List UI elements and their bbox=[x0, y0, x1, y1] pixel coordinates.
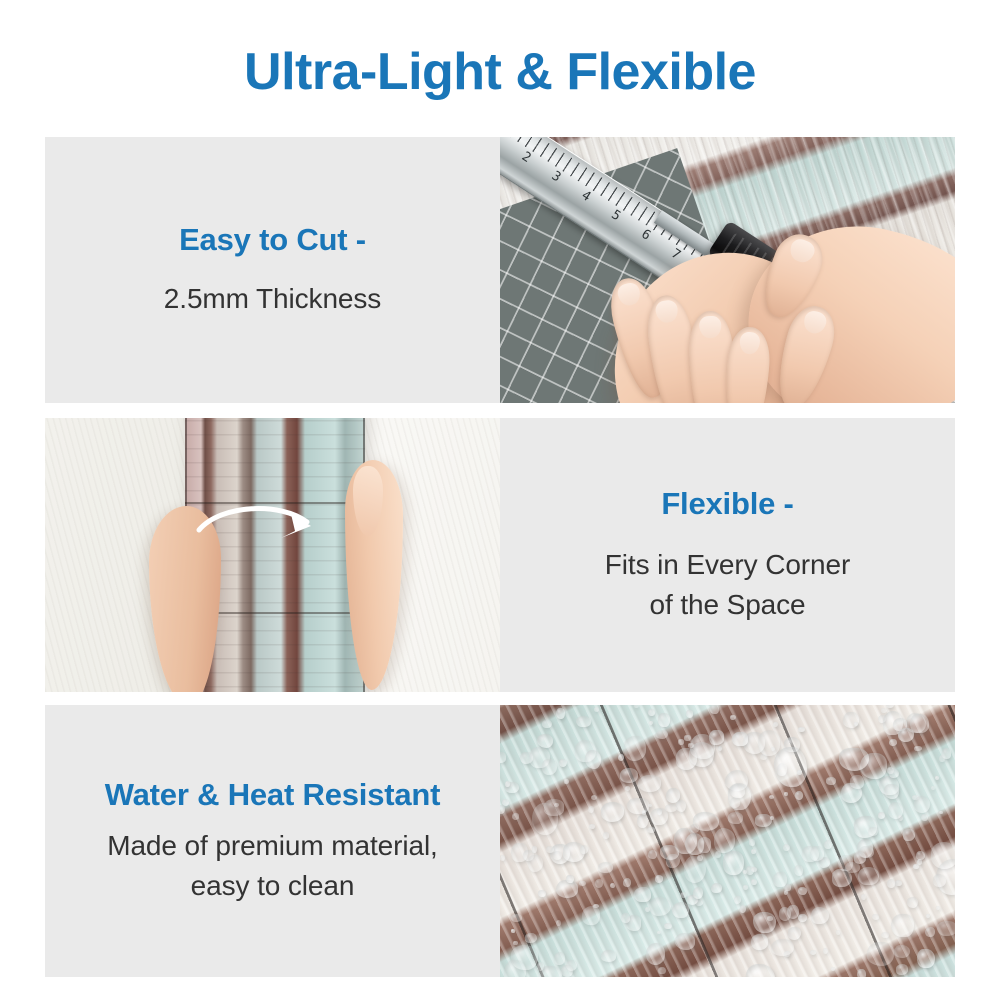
water-droplet bbox=[889, 739, 897, 746]
feature-row-easy-to-cut: Easy to Cut - 2.5mm Thickness 0 1 2 3 4 … bbox=[45, 137, 955, 403]
water-droplet bbox=[511, 929, 515, 932]
water-droplet bbox=[935, 776, 939, 780]
water-droplet bbox=[857, 969, 866, 977]
feature-body-line-corner: Fits in Every Corner bbox=[605, 545, 850, 585]
water-droplet bbox=[709, 730, 724, 745]
water-droplet bbox=[894, 945, 910, 958]
water-droplet bbox=[656, 730, 668, 739]
water-droplet bbox=[746, 964, 775, 977]
water-droplet bbox=[914, 796, 930, 814]
water-droplet bbox=[914, 746, 922, 752]
water-droplet bbox=[603, 832, 609, 839]
water-droplet bbox=[868, 827, 878, 836]
water-droplet bbox=[554, 952, 565, 965]
water-droplet bbox=[625, 786, 630, 791]
water-droplet bbox=[743, 870, 747, 873]
water-droplet bbox=[743, 885, 749, 890]
water-droplet bbox=[931, 842, 955, 870]
water-droplet bbox=[537, 734, 553, 748]
water-droplet bbox=[723, 851, 744, 875]
water-droplet bbox=[645, 907, 650, 912]
water-droplet bbox=[594, 707, 599, 713]
feature-body-line-clean: easy to clean bbox=[191, 866, 355, 906]
fingernail bbox=[616, 281, 642, 307]
water-droplet bbox=[582, 906, 599, 925]
water-droplet bbox=[933, 874, 946, 887]
water-droplet bbox=[939, 811, 944, 815]
water-droplet bbox=[907, 897, 918, 908]
feature-body-line-thickness: 2.5mm Thickness bbox=[164, 279, 381, 319]
water-droplet bbox=[648, 850, 657, 859]
water-droplet bbox=[563, 842, 585, 863]
water-droplet bbox=[566, 875, 574, 884]
water-droplet bbox=[783, 844, 791, 851]
water-droplet bbox=[850, 775, 865, 789]
water-droplet bbox=[649, 721, 653, 725]
water-droplet bbox=[798, 727, 805, 733]
water-droplet bbox=[566, 960, 577, 971]
water-droplet bbox=[838, 855, 853, 871]
water-droplet bbox=[512, 813, 519, 820]
water-droplet bbox=[538, 890, 546, 897]
feature-text-pane-easy-to-cut: Easy to Cut - 2.5mm Thickness bbox=[45, 137, 500, 403]
water-droplet bbox=[666, 854, 680, 868]
fingernail bbox=[801, 309, 828, 336]
water-droplet bbox=[926, 914, 930, 918]
water-droplet bbox=[685, 833, 705, 855]
water-droplet bbox=[823, 948, 828, 954]
water-droplet bbox=[831, 967, 835, 971]
water-droplet bbox=[676, 748, 696, 771]
water-droplet bbox=[810, 846, 824, 861]
water-droplet bbox=[734, 896, 741, 904]
water-droplet bbox=[665, 804, 677, 813]
water-droplet bbox=[500, 855, 505, 861]
water-droplet bbox=[858, 867, 880, 885]
water-droplet bbox=[886, 705, 894, 708]
water-droplet bbox=[598, 862, 613, 873]
water-droplet bbox=[556, 920, 562, 927]
water-droplet bbox=[715, 851, 721, 858]
water-droplet bbox=[753, 912, 776, 933]
water-droplet bbox=[889, 769, 899, 778]
water-droplets-photo bbox=[500, 705, 955, 977]
water-droplet bbox=[504, 960, 526, 977]
water-droplet bbox=[774, 747, 808, 787]
water-droplet bbox=[623, 878, 631, 887]
water-droplet bbox=[861, 894, 866, 900]
water-droplet bbox=[740, 905, 746, 912]
water-droplet bbox=[657, 931, 661, 934]
water-droplet bbox=[730, 784, 745, 798]
water-droplet bbox=[680, 892, 687, 898]
feature-row-water-heat-resistant: Water & Heat Resistant Made of premium m… bbox=[45, 705, 955, 977]
water-droplet bbox=[771, 939, 794, 957]
water-droplet bbox=[556, 708, 565, 719]
water-droplet bbox=[621, 913, 630, 924]
water-droplet bbox=[588, 806, 594, 813]
water-droplet bbox=[624, 736, 646, 761]
water-droplet bbox=[937, 921, 955, 936]
water-droplet bbox=[710, 705, 719, 714]
water-droplet bbox=[537, 962, 544, 970]
water-droplet bbox=[896, 964, 909, 974]
water-droplet bbox=[917, 949, 935, 969]
water-droplet bbox=[672, 902, 689, 918]
water-droplet bbox=[824, 840, 832, 849]
water-droplet bbox=[895, 880, 902, 886]
feature-body-line-material: Made of premium material, bbox=[107, 826, 438, 866]
water-droplet bbox=[878, 812, 885, 820]
water-droplet bbox=[532, 803, 558, 835]
water-droplet bbox=[678, 739, 684, 746]
water-droplet bbox=[867, 942, 895, 966]
water-droplet bbox=[751, 879, 757, 885]
water-droplet bbox=[749, 839, 756, 846]
water-droplet bbox=[798, 887, 807, 895]
infographic-page: Ultra-Light & Flexible Easy to Cut - 2.5… bbox=[0, 0, 1000, 1000]
water-droplet bbox=[836, 930, 840, 935]
water-droplet bbox=[554, 803, 559, 807]
feature-heading-flexible: Flexible - bbox=[661, 485, 793, 523]
water-droplet bbox=[690, 824, 699, 833]
water-droplet bbox=[610, 883, 615, 889]
water-droplet bbox=[589, 824, 595, 829]
water-droplet bbox=[779, 907, 791, 921]
water-droplet bbox=[769, 795, 774, 799]
water-droplet bbox=[810, 950, 816, 955]
feature-text-pane-flexible: Flexible - Fits in Every Corner of the S… bbox=[500, 418, 955, 692]
water-droplet bbox=[798, 914, 807, 922]
water-droplet bbox=[718, 746, 722, 751]
fingernail bbox=[655, 299, 679, 324]
fingernail bbox=[699, 316, 721, 339]
water-droplet bbox=[884, 784, 899, 800]
water-droplet bbox=[513, 941, 518, 946]
feature-body-line-space: of the Space bbox=[649, 585, 805, 625]
water-droplet bbox=[728, 812, 742, 824]
water-droplet bbox=[854, 722, 858, 726]
water-droplet bbox=[773, 722, 778, 727]
water-droplet bbox=[684, 856, 707, 883]
water-droplet bbox=[891, 914, 914, 938]
water-droplet bbox=[601, 802, 624, 822]
water-droplet bbox=[714, 828, 735, 854]
water-droplet bbox=[693, 887, 703, 898]
water-droplet bbox=[511, 914, 522, 922]
water-droplet bbox=[500, 752, 506, 762]
water-droplet bbox=[811, 907, 829, 924]
water-droplet bbox=[649, 897, 671, 916]
water-droplet bbox=[650, 808, 668, 825]
water-droplet bbox=[730, 797, 740, 808]
water-droplet bbox=[648, 804, 652, 807]
water-droplet bbox=[925, 927, 935, 937]
water-droplet bbox=[684, 735, 691, 742]
water-droplet bbox=[564, 779, 569, 784]
water-droplet bbox=[770, 816, 775, 820]
water-droplet bbox=[579, 881, 586, 887]
water-droplet bbox=[785, 884, 791, 891]
water-droplet bbox=[936, 906, 940, 910]
water-droplet bbox=[898, 728, 914, 743]
fingernail bbox=[787, 236, 817, 265]
water-droplet bbox=[528, 855, 543, 871]
water-droplet bbox=[697, 855, 702, 862]
water-droplet bbox=[730, 715, 736, 721]
water-droplet bbox=[627, 798, 649, 814]
water-droplet bbox=[559, 759, 567, 767]
water-droplet bbox=[620, 768, 639, 784]
page-title: Ultra-Light & Flexible bbox=[0, 42, 1000, 102]
water-droplet bbox=[542, 759, 557, 775]
water-droplet bbox=[634, 887, 651, 903]
water-droplet bbox=[664, 923, 671, 929]
water-droplet bbox=[502, 799, 509, 806]
water-droplet bbox=[931, 786, 935, 790]
water-droplet bbox=[771, 747, 775, 751]
bending-panel-photo bbox=[45, 418, 500, 692]
fingernail bbox=[739, 331, 761, 354]
water-droplet bbox=[618, 754, 624, 761]
water-droplet bbox=[921, 814, 929, 821]
water-droplet bbox=[576, 716, 591, 727]
feature-text-pane-water-heat-resistant: Water & Heat Resistant Made of premium m… bbox=[45, 705, 500, 977]
water-droplet bbox=[751, 849, 756, 855]
water-droplet bbox=[732, 732, 748, 746]
water-droplet bbox=[634, 705, 639, 708]
water-droplet bbox=[500, 805, 505, 814]
water-droplet bbox=[525, 933, 538, 944]
water-droplet bbox=[585, 750, 601, 769]
water-droplet bbox=[903, 829, 915, 841]
water-droplet bbox=[648, 709, 655, 716]
water-droplet bbox=[751, 934, 768, 950]
water-droplet bbox=[655, 875, 664, 883]
water-droplet bbox=[913, 864, 919, 870]
water-droplet bbox=[859, 846, 875, 858]
water-droplet bbox=[658, 713, 670, 727]
water-droplet bbox=[788, 927, 800, 940]
water-droplet bbox=[711, 883, 722, 893]
water-droplet bbox=[532, 846, 538, 852]
water-droplet bbox=[595, 879, 604, 888]
water-droplet bbox=[646, 943, 666, 965]
water-droplet bbox=[942, 748, 952, 758]
water-droplet bbox=[784, 792, 788, 796]
water-droplet bbox=[795, 791, 803, 800]
water-droplet bbox=[773, 872, 788, 888]
water-droplet bbox=[647, 827, 655, 833]
water-droplet bbox=[826, 777, 836, 786]
water-droplet bbox=[638, 775, 661, 792]
water-droplet bbox=[601, 950, 617, 962]
water-droplet bbox=[676, 800, 686, 812]
water-droplet bbox=[688, 743, 693, 748]
water-droplet bbox=[591, 795, 597, 800]
water-droplet bbox=[675, 933, 695, 951]
water-droplet bbox=[658, 967, 666, 975]
feature-row-flexible: Flexible - Fits in Every Corner of the S… bbox=[45, 418, 955, 692]
water-droplet bbox=[542, 720, 552, 727]
water-droplet bbox=[637, 815, 648, 829]
bend-direction-arrow-icon bbox=[195, 498, 325, 558]
water-droplet bbox=[872, 914, 879, 920]
feature-heading-water-heat-resistant: Water & Heat Resistant bbox=[105, 776, 441, 814]
water-droplet bbox=[881, 932, 890, 939]
water-droplet bbox=[794, 865, 804, 876]
water-droplet bbox=[888, 802, 903, 819]
water-droplet-layer bbox=[500, 705, 955, 977]
water-droplet bbox=[686, 710, 693, 718]
cutting-panel-photo: 0 1 2 3 4 5 6 7 8 9 20 1 2 3 30 1 2 3 4 … bbox=[500, 137, 955, 403]
feature-heading-easy-to-cut: Easy to Cut - bbox=[179, 221, 366, 259]
water-droplet bbox=[887, 879, 896, 888]
